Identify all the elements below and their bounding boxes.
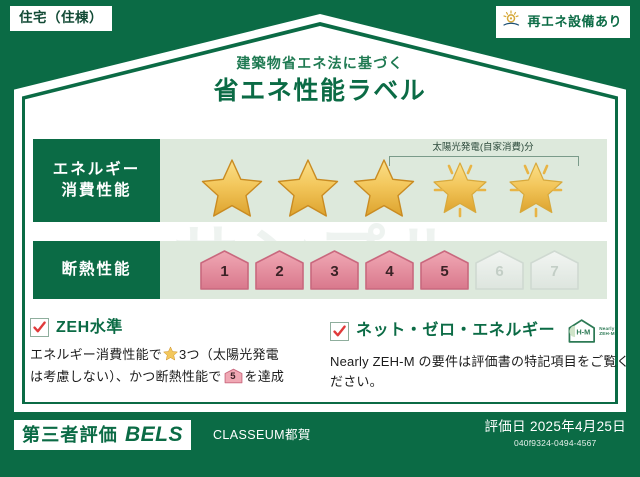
zeh-m-caption-line1: Nearly — [599, 326, 614, 331]
bels-badge: 第三者評価 BELS — [14, 420, 191, 450]
title-block: 建築物省エネ法に基づく 省エネ性能ラベル — [0, 56, 640, 104]
title-subtitle: 建築物省エネ法に基づく — [0, 56, 640, 70]
insulation-grade-7: 7 — [528, 249, 581, 291]
house-type-tag: 住宅（住棟） — [10, 6, 112, 31]
evaluation-date: 評価日 2025年4月25日 — [484, 420, 626, 434]
netzero-criterion-title: ネット・ゼロ・エネルギー — [356, 323, 555, 339]
energy-performance-label: エネルギー 消費性能 — [33, 139, 160, 222]
insulation-grade-2-value: 2 — [253, 264, 306, 279]
page-title: 省エネ性能ラベル — [0, 79, 640, 104]
insulation-grade-5-value: 5 — [418, 264, 471, 279]
sun-icon — [502, 10, 522, 33]
energy-performance-label: 住宅（住棟） 再エネ設備あり 建築物省エネ法に基づく 省エネ性能ラベル サンプル — [0, 0, 640, 477]
checkmark-icon — [330, 322, 349, 341]
netzero-criterion: ネット・ゼロ・エネルギー H-M Nearly ZEH-M Nearly ZEH… — [320, 318, 640, 404]
solar-bracket-label: 太陽光発電(自家消費)分 — [388, 143, 578, 153]
svg-text:H-M: H-M — [577, 327, 591, 336]
zeh-body-star-count: 3つ（太陽光発電 — [179, 347, 279, 362]
zeh-m-logo: H-M Nearly ZEH-M — [567, 318, 615, 344]
renewable-badge-label: 再エネ設備あり — [527, 15, 622, 28]
zeh-criterion: ZEH水準 エネルギー消費性能で 3つ（太陽光発電 は考慮しない）、かつ断熱性能… — [0, 318, 320, 404]
checkmark-icon — [30, 318, 49, 337]
insulation-grades-body: 1 2 3 4 — [160, 241, 607, 299]
criteria-section: ZEH水準 エネルギー消費性能で 3つ（太陽光発電 は考慮しない）、かつ断熱性能… — [0, 318, 640, 404]
star-5-solar — [504, 157, 568, 219]
inline-house-value: 5 — [224, 372, 243, 382]
insulation-grade-6: 6 — [473, 249, 526, 291]
insulation-grade-4-value: 4 — [363, 264, 416, 279]
renewable-energy-badge: 再エネ設備あり — [496, 6, 630, 38]
netzero-criterion-body: Nearly ZEH-M の要件は評価書の特記項目をご覧ください。 — [330, 352, 632, 392]
zeh-criterion-title: ZEH水準 — [56, 320, 123, 336]
netzero-criterion-header: ネット・ゼロ・エネルギー H-M Nearly ZEH-M — [330, 318, 632, 344]
energy-label-line2: 消費性能 — [61, 181, 131, 202]
inline-house-icon: 5 — [224, 368, 243, 384]
bels-jp-label: 第三者評価 — [22, 426, 118, 444]
insulation-grade-1: 1 — [198, 249, 251, 291]
solar-bracket — [389, 156, 579, 166]
insulation-grade-1-value: 1 — [198, 264, 251, 279]
zeh-criterion-body: エネルギー消費性能で 3つ（太陽光発電 は考慮しない）、かつ断熱性能で 5 を達… — [30, 345, 312, 387]
insulation-performance-row: 断熱性能 1 — [33, 241, 607, 299]
inline-star-icon — [163, 346, 178, 367]
insulation-grade-2: 2 — [253, 249, 306, 291]
star-4-solar — [428, 157, 492, 219]
zeh-body-part1: エネルギー消費性能で — [30, 347, 162, 362]
bels-en-label: BELS — [125, 424, 183, 445]
star-3 — [352, 157, 416, 219]
star-1 — [200, 157, 264, 219]
building-name: CLASSEUM都賀 — [213, 429, 311, 442]
insulation-grade-3-value: 3 — [308, 264, 361, 279]
evaluation-info: 評価日 2025年4月25日 040f9324-0494-4567 — [484, 420, 626, 447]
insulation-grade-3: 3 — [308, 249, 361, 291]
insulation-grade-6-value: 6 — [473, 264, 526, 279]
insulation-grade-5: 5 — [418, 249, 471, 291]
star-2 — [276, 157, 340, 219]
zeh-m-logo-caption: Nearly ZEH-M — [599, 326, 615, 337]
zeh-m-caption-line2: ZEH-M — [599, 331, 615, 336]
evaluation-date-label: 評価日 — [484, 419, 525, 434]
zeh-body-part3: を達成 — [245, 369, 285, 384]
certificate-number: 040f9324-0494-4567 — [484, 439, 626, 448]
zeh-body-part2: は考慮しない）、かつ断熱性能で — [30, 369, 222, 384]
zeh-criterion-header: ZEH水準 — [30, 318, 312, 337]
insulation-grade-4: 4 — [363, 249, 416, 291]
evaluation-date-value: 2025年4月25日 — [530, 419, 626, 434]
energy-label-line1: エネルギー — [53, 160, 141, 181]
footer: 第三者評価 BELS CLASSEUM都賀 評価日 2025年4月25日 040… — [0, 412, 640, 477]
insulation-performance-label: 断熱性能 — [33, 241, 160, 299]
insulation-grade-7-value: 7 — [528, 264, 581, 279]
